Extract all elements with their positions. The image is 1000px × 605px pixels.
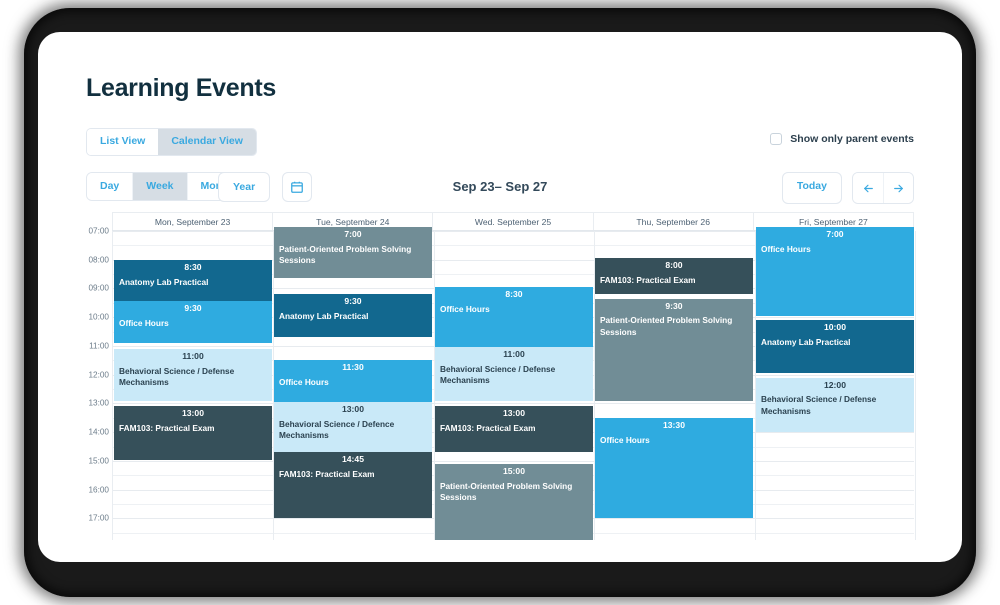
event-title: FAM103: Practical Exam: [440, 423, 588, 434]
event-time: 11:00: [119, 352, 267, 362]
day-column-5: 7:00Office Hours10:00Anatomy Lab Practic…: [755, 231, 915, 540]
calendar-event[interactable]: 8:30Office Hours: [435, 287, 593, 347]
time-label-1400: 14:00: [89, 428, 110, 437]
calendar-event[interactable]: 13:30Office Hours: [595, 418, 753, 519]
event-time: 13:00: [440, 409, 588, 419]
event-title: Office Hours: [440, 304, 588, 315]
time-label-1700: 17:00: [89, 514, 110, 523]
event-title: Behavioral Science / Defence Mechanisms: [279, 419, 427, 441]
event-time: 8:30: [440, 290, 588, 300]
event-title: Anatomy Lab Practical: [279, 311, 427, 322]
event-title: Behavioral Science / Defense Mechanisms: [119, 366, 267, 388]
event-title: Anatomy Lab Practical: [119, 277, 267, 288]
time-label-1600: 16:00: [89, 485, 110, 494]
prev-next-group[interactable]: [852, 172, 914, 204]
event-time: 7:00: [761, 230, 909, 240]
calendar-event[interactable]: 12:00Behavioral Science / Defense Mechan…: [756, 378, 914, 433]
time-label-1300: 13:00: [89, 399, 110, 408]
event-title: FAM103: Practical Exam: [119, 423, 267, 434]
event-time: 8:30: [119, 263, 267, 273]
calendar-event[interactable]: 10:00Anatomy Lab Practical: [756, 320, 914, 373]
time-label-0700: 07:00: [89, 227, 110, 236]
event-time: 10:00: [761, 323, 909, 333]
day-column-3: 8:30Office Hours11:00Behavioral Science …: [434, 231, 594, 540]
calendar-event[interactable]: 13:00Behavioral Science / Defence Mechan…: [274, 402, 432, 452]
day-header-4: Thu, September 26: [594, 213, 754, 230]
show-only-parent-events-checkbox[interactable]: [770, 133, 782, 145]
day-columns: 8:30Anatomy Lab Practical9:30Office Hour…: [112, 231, 914, 540]
event-time: 9:30: [279, 297, 427, 307]
calendar-event[interactable]: 11:00Behavioral Science / Defense Mechan…: [114, 349, 272, 401]
arrow-left-icon: [862, 182, 875, 195]
show-only-parent-events-control[interactable]: Show only parent events: [770, 133, 914, 145]
event-time: 15:00: [440, 467, 588, 477]
column-divider: [915, 231, 916, 540]
event-time: 9:30: [600, 302, 748, 312]
time-label-1500: 15:00: [89, 456, 110, 465]
calendar-event[interactable]: 9:30Anatomy Lab Practical: [274, 294, 432, 337]
calendar-event[interactable]: 9:30Patient-Oriented Problem Solving Ses…: [595, 299, 753, 401]
week-calendar: Mon, September 23Tue, September 24Wed. S…: [86, 212, 914, 540]
event-title: Patient-Oriented Problem Solving Session…: [279, 244, 427, 266]
event-title: Office Hours: [761, 244, 909, 255]
calendar-event[interactable]: 7:00Patient-Oriented Problem Solving Ses…: [274, 227, 432, 279]
event-title: Behavioral Science / Defense Mechanisms: [761, 394, 909, 416]
event-title: Office Hours: [600, 435, 748, 446]
calendar-body: 07:0008:0009:0010:0011:0012:0013:0014:00…: [86, 231, 914, 540]
screenshot-frame: Learning Events List View Calendar View …: [0, 0, 1000, 605]
event-title: Patient-Oriented Problem Solving Session…: [440, 481, 588, 503]
event-time: 8:00: [600, 261, 748, 271]
event-title: Patient-Oriented Problem Solving Session…: [600, 315, 748, 337]
day-column-4: 8:00FAM103: Practical Exam9:30Patient-Or…: [594, 231, 754, 540]
tab-list-view[interactable]: List View: [87, 129, 158, 155]
navigation-controls: Today: [782, 172, 914, 204]
time-label-1100: 11:00: [89, 341, 109, 350]
show-only-parent-events-label: Show only parent events: [790, 133, 914, 145]
event-time: 11:00: [440, 350, 588, 360]
event-time: 12:00: [761, 381, 909, 391]
calendar-event[interactable]: 14:45FAM103: Practical Exam: [274, 452, 432, 518]
calendar-event[interactable]: 9:30Office Hours: [114, 301, 272, 343]
event-time: 13:00: [119, 409, 267, 419]
time-label-0800: 08:00: [89, 255, 110, 264]
calendar-event[interactable]: 7:00Office Hours: [756, 227, 914, 316]
next-week-button[interactable]: [883, 173, 913, 203]
calendar-event[interactable]: 11:30Office Hours: [274, 360, 432, 402]
previous-week-button[interactable]: [853, 173, 883, 203]
day-column-2: 7:00Patient-Oriented Problem Solving Ses…: [273, 231, 433, 540]
calendar-event[interactable]: 13:00FAM103: Practical Exam: [435, 406, 593, 452]
app-card: Learning Events List View Calendar View …: [38, 32, 962, 562]
time-label-0900: 09:00: [89, 284, 110, 293]
day-header-1: Mon, September 23: [112, 213, 273, 230]
time-label-1000: 10:00: [89, 313, 110, 322]
calendar-event[interactable]: 8:00FAM103: Practical Exam: [595, 258, 753, 294]
calendar-event[interactable]: 13:00FAM103: Practical Exam: [114, 406, 272, 459]
event-time: 7:00: [279, 230, 427, 240]
event-title: FAM103: Practical Exam: [279, 469, 427, 480]
event-time: 14:45: [279, 455, 427, 465]
tab-calendar-view[interactable]: Calendar View: [158, 129, 256, 155]
page-title: Learning Events: [86, 74, 276, 103]
event-time: 13:30: [600, 421, 748, 431]
event-time: 11:30: [279, 363, 427, 373]
event-time: 9:30: [119, 304, 267, 314]
event-title: Behavioral Science / Defense Mechanisms: [440, 364, 588, 386]
day-column-1: 8:30Anatomy Lab Practical9:30Office Hour…: [113, 231, 273, 540]
calendar-toolbar: Day Week Month Year Sep 23– Sep 27 Today: [86, 172, 914, 202]
event-title: FAM103: Practical Exam: [600, 275, 748, 286]
calendar-event[interactable]: 11:00Behavioral Science / Defense Mechan…: [435, 347, 593, 400]
event-title: Office Hours: [119, 318, 267, 329]
arrow-right-icon: [892, 182, 905, 195]
day-header-3: Wed. September 25: [433, 213, 593, 230]
event-title: Anatomy Lab Practical: [761, 337, 909, 348]
today-button[interactable]: Today: [782, 172, 842, 204]
calendar-event[interactable]: 15:00Patient-Oriented Problem Solving Se…: [435, 464, 593, 540]
event-title: Office Hours: [279, 377, 427, 388]
time-axis: 07:0008:0009:0010:0011:0012:0013:0014:00…: [86, 231, 112, 540]
event-time: 13:00: [279, 405, 427, 415]
view-mode-tabs[interactable]: List View Calendar View: [86, 128, 257, 156]
time-label-1200: 12:00: [89, 370, 110, 379]
calendar-event[interactable]: 8:30Anatomy Lab Practical: [114, 260, 272, 302]
